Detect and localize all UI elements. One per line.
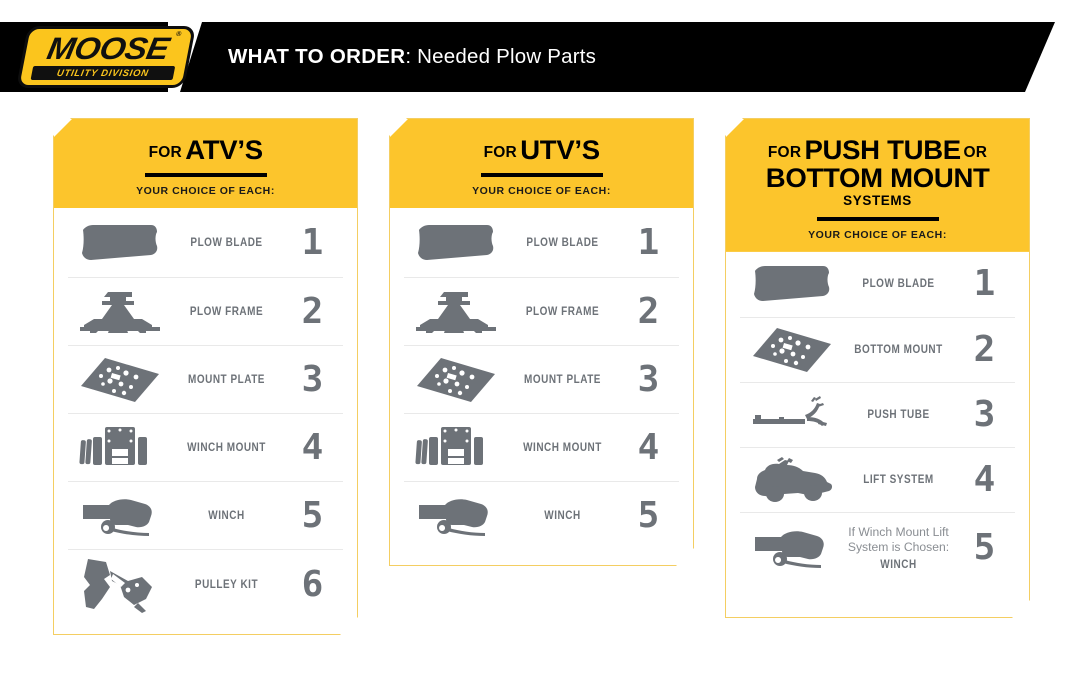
table-cell-number: 5 — [617, 498, 679, 534]
table-cell-number: 4 — [617, 430, 679, 466]
card-utv-header: FOR UTV’S YOUR CHOICE OF EACH: — [390, 119, 693, 208]
card-utv-title-main: UTV’S — [521, 136, 601, 164]
table-row[interactable]: PUSH TUBE 3 — [740, 382, 1015, 447]
card-push-tube-header: FOR PUSH TUBE OR BOTTOM MOUNT SYSTEMS YO… — [726, 119, 1029, 252]
card-push-tube-subtitle: YOUR CHOICE OF EACH: — [726, 229, 1029, 252]
table-row[interactable]: PLOW BLADE 1 — [740, 252, 1015, 317]
table-cell-label: WINCH MOUNT — [180, 441, 274, 455]
plow-blade-icon — [740, 263, 844, 305]
table-cell-label: PLOW BLADE — [516, 236, 610, 250]
registered-trademark-icon: ® — [175, 31, 182, 38]
table-cell-number: 3 — [617, 362, 679, 398]
table-cell-number: 1 — [281, 225, 343, 261]
table-cell-note: If Winch Mount Lift System is Chosen: — [845, 525, 952, 554]
card-push-tube-title-line1: FOR PUSH TUBE OR — [726, 136, 1029, 164]
winch-icon — [740, 527, 844, 569]
table-cell-label: WINCH — [180, 509, 274, 523]
card-push-tube-title-line2: BOTTOM MOUNT — [726, 164, 1029, 192]
page-title-light: : Needed Plow Parts — [405, 45, 596, 69]
table-cell-number: 2 — [617, 294, 679, 330]
table-row[interactable]: WINCH 5 — [404, 481, 679, 549]
plow-frame-icon — [68, 290, 172, 334]
table-row[interactable]: PLOW BLADE 1 — [404, 208, 679, 277]
table-cell-label: WINCH — [516, 509, 610, 523]
card-utv-divider — [481, 173, 603, 177]
table-cell-label-text: WINCH — [852, 558, 946, 572]
table-cell-label: BOTTOM MOUNT — [852, 343, 946, 357]
card-push-tube: FOR PUSH TUBE OR BOTTOM MOUNT SYSTEMS YO… — [725, 118, 1030, 618]
push-tube-icon — [740, 395, 844, 435]
page-title: WHAT TO ORDER: Needed Plow Parts — [228, 22, 596, 92]
card-utv: FOR UTV’S YOUR CHOICE OF EACH: PLOW BLAD… — [389, 118, 694, 566]
table-cell-number: 5 — [953, 530, 1015, 566]
table-row[interactable]: MOUNT PLATE 3 — [68, 345, 343, 413]
table-cell-label: WINCH MOUNT — [516, 441, 610, 455]
mount-plate-icon — [68, 356, 172, 404]
logo-wordmark: MOOSE — [44, 34, 171, 63]
card-push-tube-for-word: FOR — [768, 144, 801, 161]
card-atv-header: FOR ATV’S YOUR CHOICE OF EACH: — [54, 119, 357, 208]
table-cell-label: If Winch Mount Lift System is Chosen: WI… — [852, 525, 946, 571]
page-header: WHAT TO ORDER: Needed Plow Parts MOOSE U… — [0, 22, 1080, 92]
card-atv-rows: PLOW BLADE 1 PLOW FRAME 2 MOUNT PLATE 3 … — [54, 208, 357, 619]
bottom-mount-icon — [740, 326, 844, 374]
card-atv-subtitle: YOUR CHOICE OF EACH: — [54, 185, 357, 208]
plow-frame-icon — [404, 290, 508, 334]
table-row[interactable]: PLOW BLADE 1 — [68, 208, 343, 277]
table-cell-label: PUSH TUBE — [852, 408, 946, 422]
card-push-tube-title-alt: BOTTOM MOUNT — [766, 164, 990, 192]
table-cell-number: 1 — [953, 266, 1015, 302]
card-atv-divider — [145, 173, 267, 177]
table-cell-label: PLOW BLADE — [180, 236, 274, 250]
table-cell-number: 4 — [953, 462, 1015, 498]
table-row[interactable]: WINCH 5 — [68, 481, 343, 549]
table-row[interactable]: WINCH MOUNT 4 — [68, 413, 343, 481]
winch-icon — [68, 495, 172, 537]
table-cell-number: 4 — [281, 430, 343, 466]
plow-blade-icon — [68, 222, 172, 264]
table-cell-label: PLOW BLADE — [852, 277, 946, 291]
logo-tagline: UTILITY DIVISION — [56, 68, 150, 77]
table-cell-number: 5 — [281, 498, 343, 534]
card-atv: FOR ATV’S YOUR CHOICE OF EACH: PLOW BLAD… — [53, 118, 358, 635]
table-cell-number: 2 — [281, 294, 343, 330]
card-push-tube-divider — [817, 217, 939, 221]
card-push-tube-systems-word: SYSTEMS — [726, 194, 1029, 208]
plow-blade-icon — [404, 222, 508, 264]
table-row[interactable]: PULLEY KIT 6 — [68, 549, 343, 619]
card-atv-title-main: ATV’S — [186, 136, 264, 164]
table-row[interactable]: MOUNT PLATE 3 — [404, 345, 679, 413]
table-row[interactable]: LIFT SYSTEM 4 — [740, 447, 1015, 512]
card-utv-rows: PLOW BLADE 1 PLOW FRAME 2 MOUNT PLATE 3 … — [390, 208, 693, 549]
pulley-kit-icon — [68, 557, 172, 613]
table-cell-number: 6 — [281, 567, 343, 603]
table-row[interactable]: PLOW FRAME 2 — [68, 277, 343, 345]
winch-icon — [404, 495, 508, 537]
page-title-strong: WHAT TO ORDER — [228, 45, 405, 69]
card-utv-for-word: FOR — [484, 144, 517, 161]
card-atv-for-word: FOR — [149, 144, 182, 161]
moose-utility-division-logo: MOOSE UTILITY DIVISION ® — [22, 26, 190, 88]
winch-mount-icon — [404, 425, 508, 471]
mount-plate-icon — [404, 356, 508, 404]
table-cell-label: MOUNT PLATE — [180, 373, 274, 387]
table-row[interactable]: If Winch Mount Lift System is Chosen: WI… — [740, 512, 1015, 584]
card-atv-title: FOR ATV’S — [54, 136, 357, 164]
table-cell-label: MOUNT PLATE — [516, 373, 610, 387]
table-cell-label: LIFT SYSTEM — [852, 473, 946, 487]
card-utv-subtitle: YOUR CHOICE OF EACH: — [390, 185, 693, 208]
logo-tagline-bar: UTILITY DIVISION — [31, 66, 176, 80]
table-cell-label: PLOW FRAME — [180, 305, 274, 319]
lift-system-icon — [740, 456, 844, 504]
card-push-tube-rows: PLOW BLADE 1 BOTTOM MOUNT 2 PUSH TUBE 3 … — [726, 252, 1029, 584]
table-cell-number: 2 — [953, 332, 1015, 368]
table-cell-number: 3 — [953, 397, 1015, 433]
logo-inner: MOOSE UTILITY DIVISION — [16, 26, 196, 88]
card-push-tube-title-line3: SYSTEMS — [726, 194, 1029, 208]
card-push-tube-or-word: OR — [963, 144, 987, 161]
table-cell-label: PULLEY KIT — [180, 578, 274, 592]
table-cell-number: 1 — [617, 225, 679, 261]
winch-mount-icon — [68, 425, 172, 471]
card-push-tube-title-main: PUSH TUBE — [804, 136, 960, 164]
table-row[interactable]: BOTTOM MOUNT 2 — [740, 317, 1015, 382]
table-cell-number: 3 — [281, 362, 343, 398]
card-utv-title: FOR UTV’S — [390, 136, 693, 164]
table-cell-label: PLOW FRAME — [516, 305, 610, 319]
table-row[interactable]: WINCH MOUNT 4 — [404, 413, 679, 481]
table-row[interactable]: PLOW FRAME 2 — [404, 277, 679, 345]
